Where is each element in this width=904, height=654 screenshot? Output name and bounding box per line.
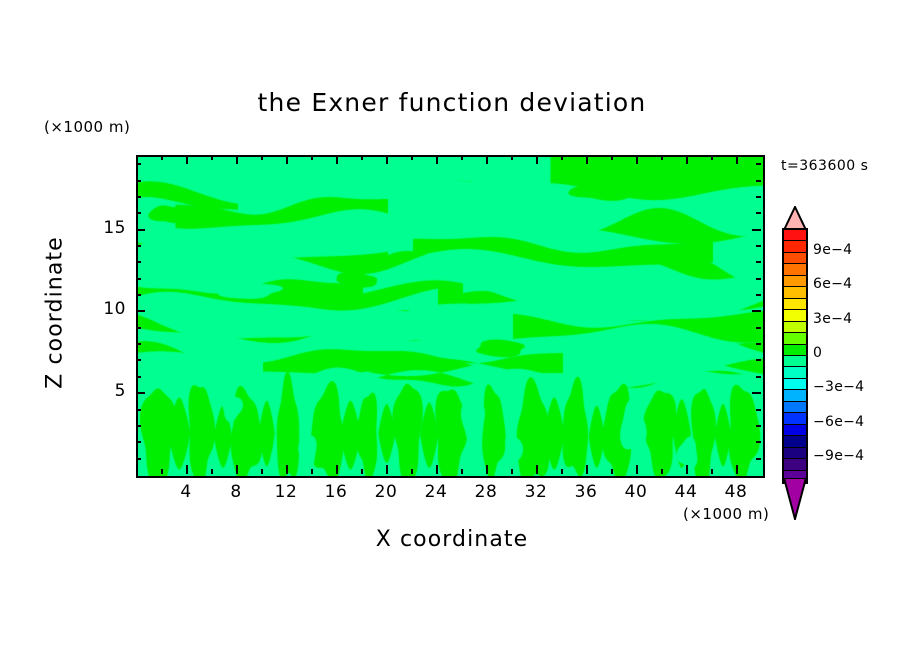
colorbar-band — [784, 264, 806, 275]
x-tick-bottom — [561, 469, 563, 474]
contour-field — [138, 157, 763, 476]
colorbar-band — [784, 367, 806, 378]
colorbar-band — [784, 448, 806, 459]
colorbar-tick-label: −3e−4 — [813, 379, 864, 395]
colorbar-band — [784, 276, 806, 287]
x-tick-bottom — [361, 469, 363, 474]
x-tick-top — [436, 155, 438, 164]
plot-area — [136, 155, 765, 478]
x-tick-label: 16 — [314, 482, 358, 502]
colorbar-band — [784, 253, 806, 264]
colorbar-band — [784, 345, 806, 356]
x-tick-top — [286, 155, 288, 164]
x-tick-top — [411, 155, 413, 160]
x-tick-bottom — [386, 465, 388, 474]
colorbar-band — [784, 459, 806, 470]
y-tick-right — [756, 294, 761, 296]
colorbar-band — [784, 425, 806, 436]
x-tick-label: 28 — [464, 482, 508, 502]
x-tick-bottom — [336, 465, 338, 474]
colorbar-band — [784, 390, 806, 401]
y-tick-right — [756, 163, 761, 165]
colorbar-tick-label: 6e−4 — [813, 276, 852, 292]
y-tick-left — [136, 458, 141, 460]
x-tick-top — [661, 155, 663, 160]
x-tick-label: 20 — [364, 482, 408, 502]
y-tick-right — [756, 359, 761, 361]
y-axis-title: Z coordinate — [43, 223, 68, 403]
y-tick-right — [756, 425, 761, 427]
y-tick-left — [136, 180, 141, 182]
x-tick-bottom — [511, 469, 513, 474]
x-tick-top — [636, 155, 638, 164]
y-tick-label: 10 — [86, 299, 126, 319]
colorbar-band — [784, 436, 806, 447]
colorbar-band — [784, 241, 806, 252]
colorbar-tick-label: 3e−4 — [813, 311, 852, 327]
colorbar-band — [784, 402, 806, 413]
x-tick-bottom — [661, 469, 663, 474]
colorbar-cap-bottom — [782, 478, 808, 520]
x-tick-label: 8 — [214, 482, 258, 502]
x-tick-bottom — [486, 465, 488, 474]
x-tick-top — [186, 155, 188, 164]
x-tick-label: 32 — [514, 482, 558, 502]
x-tick-top — [536, 155, 538, 164]
figure-canvas: the Exner function deviation (×1000 m) (… — [0, 0, 904, 654]
colorbar-band — [784, 379, 806, 390]
colorbar-band — [784, 413, 806, 424]
y-tick-left — [136, 163, 141, 165]
x-tick-bottom — [611, 469, 613, 474]
colorbar-tick-label: −6e−4 — [813, 414, 864, 430]
x-tick-label: 48 — [714, 482, 758, 502]
x-tick-top — [361, 155, 363, 160]
colorbar — [782, 228, 808, 484]
y-tick-left — [136, 294, 141, 296]
x-tick-label: 40 — [614, 482, 658, 502]
colorbar-tick-label: 9e−4 — [813, 242, 852, 258]
colorbar-band — [784, 287, 806, 298]
x-tick-bottom — [711, 469, 713, 474]
x-tick-top — [236, 155, 238, 164]
y-tick-left — [136, 359, 141, 361]
x-tick-bottom — [211, 469, 213, 474]
x-tick-bottom — [261, 469, 263, 474]
y-tick-left — [136, 441, 141, 443]
x-axis-title: X coordinate — [0, 527, 904, 552]
y-tick-right — [756, 327, 761, 329]
y-tick-left — [136, 229, 145, 231]
colorbar-band — [784, 299, 806, 310]
x-tick-label: 4 — [164, 482, 208, 502]
x-tick-top — [586, 155, 588, 164]
y-tick-right — [756, 458, 761, 460]
y-tick-left — [136, 343, 141, 345]
y-tick-right — [756, 343, 761, 345]
y-tick-left — [136, 376, 141, 378]
x-tick-bottom — [161, 469, 163, 474]
x-tick-top — [311, 155, 313, 160]
y-tick-left — [136, 327, 141, 329]
x-tick-bottom — [461, 469, 463, 474]
y-tick-left — [136, 196, 141, 198]
y-tick-right — [752, 229, 761, 231]
y-tick-left — [136, 409, 141, 411]
y-tick-right — [756, 212, 761, 214]
x-tick-top — [211, 155, 213, 160]
time-annotation: t=363600 s — [781, 158, 868, 174]
x-tick-bottom — [686, 465, 688, 474]
colorbar-band — [784, 310, 806, 321]
x-tick-bottom — [736, 465, 738, 474]
y-tick-left — [136, 425, 141, 427]
x-axis-unit-label: (×1000 m) — [683, 505, 769, 523]
y-axis-unit-label: (×1000 m) — [44, 118, 130, 136]
x-tick-bottom — [411, 469, 413, 474]
colorbar-tick-label: 0 — [813, 345, 822, 361]
colorbar-band — [784, 333, 806, 344]
y-tick-left — [136, 310, 145, 312]
x-tick-label: 44 — [664, 482, 708, 502]
page-title: the Exner function deviation — [0, 88, 904, 117]
y-tick-right — [752, 392, 761, 394]
y-tick-right — [756, 376, 761, 378]
x-tick-bottom — [286, 465, 288, 474]
x-tick-top — [736, 155, 738, 164]
x-tick-bottom — [636, 465, 638, 474]
x-tick-bottom — [236, 465, 238, 474]
y-tick-right — [756, 245, 761, 247]
x-tick-bottom — [536, 465, 538, 474]
y-tick-right — [756, 409, 761, 411]
x-tick-top — [261, 155, 263, 160]
x-tick-top — [611, 155, 613, 160]
y-tick-label: 15 — [86, 218, 126, 238]
x-tick-top — [561, 155, 563, 160]
y-tick-right — [756, 180, 761, 182]
y-tick-left — [136, 392, 145, 394]
x-tick-top — [686, 155, 688, 164]
x-tick-label: 24 — [414, 482, 458, 502]
x-tick-bottom — [311, 469, 313, 474]
x-tick-top — [486, 155, 488, 164]
x-tick-top — [461, 155, 463, 160]
colorbar-band — [784, 322, 806, 333]
x-tick-top — [161, 155, 163, 160]
x-tick-bottom — [586, 465, 588, 474]
x-tick-top — [511, 155, 513, 160]
x-tick-bottom — [436, 465, 438, 474]
colorbar-tick-label: −9e−4 — [813, 448, 864, 464]
y-tick-left — [136, 278, 141, 280]
x-tick-top — [336, 155, 338, 164]
x-tick-bottom — [186, 465, 188, 474]
y-tick-right — [756, 278, 761, 280]
colorbar-band — [784, 230, 806, 241]
y-tick-left — [136, 261, 141, 263]
y-tick-right — [756, 261, 761, 263]
y-tick-right — [756, 196, 761, 198]
colorbar-band — [784, 356, 806, 367]
x-tick-top — [386, 155, 388, 164]
y-tick-right — [752, 310, 761, 312]
x-tick-label: 36 — [564, 482, 608, 502]
x-tick-top — [711, 155, 713, 160]
y-tick-right — [756, 441, 761, 443]
colorbar-cap-top — [782, 206, 808, 230]
y-tick-left — [136, 245, 141, 247]
y-tick-label: 5 — [86, 381, 126, 401]
x-tick-label: 12 — [264, 482, 308, 502]
y-tick-left — [136, 212, 141, 214]
